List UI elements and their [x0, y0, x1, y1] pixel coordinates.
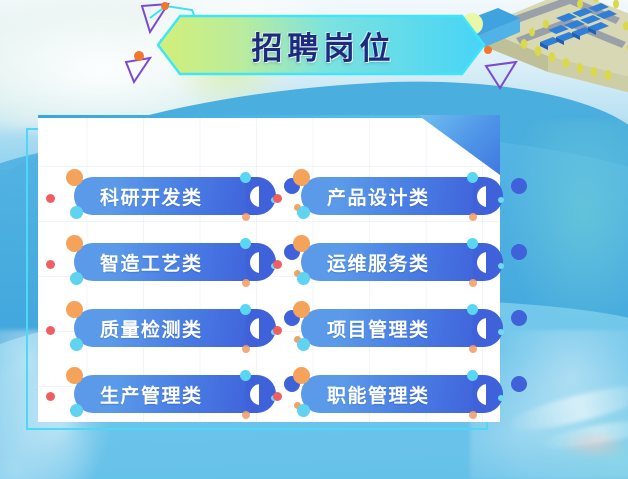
orange-small-dot-decor	[469, 279, 477, 287]
job-category-label: 项目管理类	[327, 315, 430, 342]
job-category-button[interactable]: 科研开发类	[74, 177, 254, 215]
orange-small-dot-decor	[469, 411, 477, 419]
job-category-item[interactable]: 职能管理类	[283, 371, 498, 417]
job-category-item[interactable]: 项目管理类	[283, 305, 498, 351]
cyan-dot-decor	[70, 404, 83, 417]
orange-dot-decor	[66, 367, 83, 384]
orange-dot-left	[134, 51, 144, 61]
red-dot-decor	[273, 326, 282, 335]
job-category-button[interactable]: 智造工艺类	[74, 243, 254, 281]
job-category-label: 运维服务类	[327, 249, 430, 276]
orange-dot-decor	[66, 235, 83, 252]
cyan-small-dot-decor	[498, 329, 504, 335]
orange-dot-top	[161, 2, 169, 10]
cyan-dot-decor	[297, 338, 310, 351]
job-category-item[interactable]: 生产管理类	[56, 371, 271, 417]
job-category-label: 科研开发类	[100, 183, 203, 210]
orange-dot-decor	[293, 301, 310, 318]
solar-panel-array-icon	[540, 3, 617, 50]
detached-orb-decor	[511, 310, 527, 326]
water-streak-lower	[539, 415, 628, 454]
cyan-dot-top-decor	[240, 238, 251, 249]
red-dot-decor	[273, 392, 282, 401]
cyan-dot-top-decor	[467, 238, 478, 249]
road-icon	[498, 0, 626, 48]
trees-icon	[521, 0, 628, 80]
cyan-dot-decor	[70, 272, 83, 285]
cyan-dot-top-decor	[467, 304, 478, 315]
job-category-button[interactable]: 项目管理类	[301, 309, 481, 347]
orange-small-dot-decor	[242, 279, 250, 287]
cyan-dot-top-decor	[240, 370, 251, 381]
cyan-dot-decor	[297, 206, 310, 219]
job-category-button[interactable]: 运维服务类	[301, 243, 481, 281]
orange-dot-decor	[293, 367, 310, 384]
job-category-label: 产品设计类	[327, 183, 430, 210]
job-category-item[interactable]: 产品设计类	[283, 173, 498, 219]
pink-wisp	[560, 430, 628, 460]
red-dot-decor	[273, 194, 282, 203]
cyan-dot-decor	[70, 206, 83, 219]
orange-small-dot-decor	[469, 213, 477, 221]
cyan-small-dot-decor	[498, 395, 504, 401]
orange-dot-decor	[293, 235, 310, 252]
job-category-item[interactable]: 智造工艺类	[56, 239, 271, 285]
cyan-dot-top-decor	[240, 304, 251, 315]
job-category-button[interactable]: 质量检测类	[74, 309, 254, 347]
orange-small-dot-decor	[242, 411, 250, 419]
button-notch-decor	[473, 309, 507, 347]
cyan-dot-top-decor	[240, 172, 251, 183]
detached-orb-decor	[511, 244, 527, 260]
purple-triangle-outline-right	[486, 62, 516, 88]
job-category-item[interactable]: 科研开发类	[56, 173, 271, 219]
cyan-dot-decor	[297, 404, 310, 417]
title-banner: 招聘岗位	[156, 14, 486, 76]
job-category-label: 智造工艺类	[100, 249, 203, 276]
orange-small-dot-decor	[242, 345, 250, 353]
orange-small-dot-decor	[242, 213, 250, 221]
recruitment-poster: 招聘岗位 科研开发类	[0, 0, 628, 479]
cyan-small-dot-decor	[498, 263, 504, 269]
cyan-small-dot-decor	[498, 197, 504, 203]
job-category-button[interactable]: 产品设计类	[301, 177, 481, 215]
red-dot-decor	[46, 392, 55, 401]
job-category-label: 生产管理类	[100, 381, 203, 408]
red-dot-decor	[46, 260, 55, 269]
button-notch-decor	[473, 375, 507, 413]
landmass-icon	[478, 0, 628, 94]
job-category-item[interactable]: 质量检测类	[56, 305, 271, 351]
job-category-item[interactable]: 运维服务类	[283, 239, 498, 285]
orange-dot-decor	[66, 169, 83, 186]
cyan-dot-decor	[297, 272, 310, 285]
orange-small-dot-decor	[469, 345, 477, 353]
cyan-dot-top-decor	[467, 172, 478, 183]
detached-orb-decor	[511, 376, 527, 392]
job-category-label: 质量检测类	[100, 315, 203, 342]
job-category-label: 职能管理类	[327, 381, 430, 408]
button-notch-decor	[473, 243, 507, 281]
job-category-button[interactable]: 生产管理类	[74, 375, 254, 413]
red-dot-decor	[273, 260, 282, 269]
orange-dot-decor	[293, 169, 310, 186]
orange-dot-decor	[66, 301, 83, 318]
button-notch-decor	[473, 177, 507, 215]
cyan-dot-decor	[70, 338, 83, 351]
job-category-grid: 科研开发类 产品设计类	[38, 115, 500, 422]
red-dot-decor	[46, 194, 55, 203]
job-category-button[interactable]: 职能管理类	[301, 375, 481, 413]
red-dot-decor	[46, 326, 55, 335]
page-title: 招聘岗位	[156, 14, 486, 76]
detached-orb-decor	[511, 178, 527, 194]
purple-triangle-outline-lower-left	[126, 58, 150, 82]
cyan-dot-top-decor	[467, 370, 478, 381]
